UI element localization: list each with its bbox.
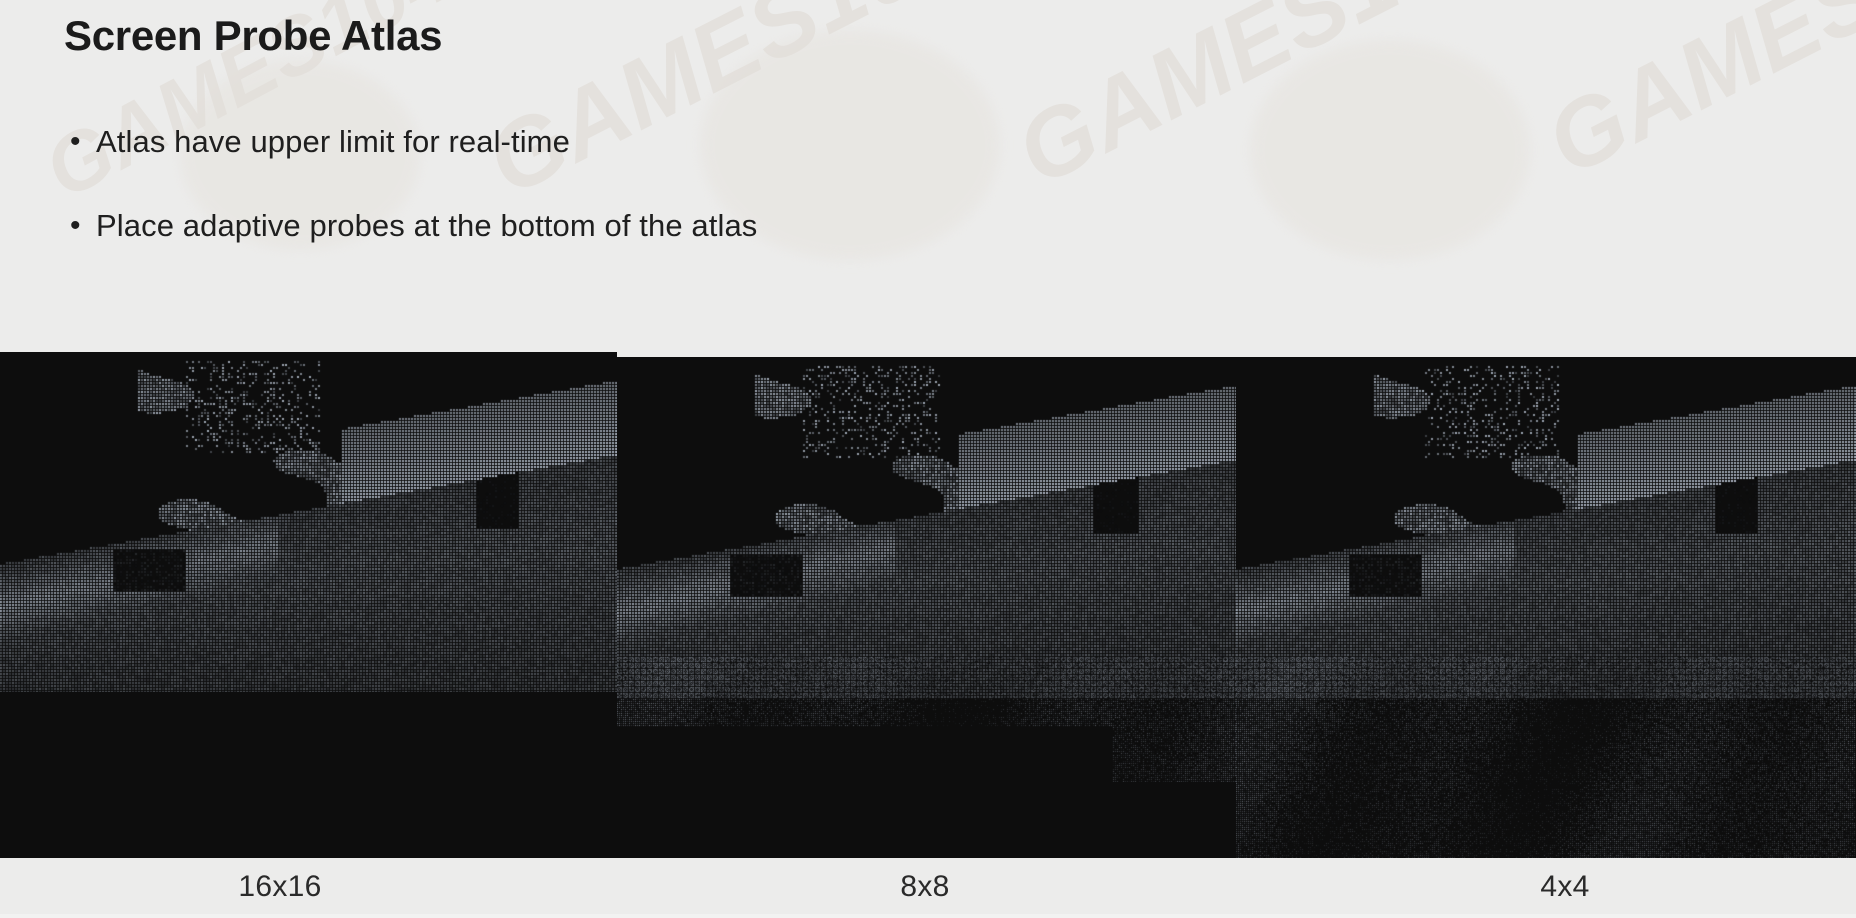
caption-8x8: 8x8	[900, 870, 949, 904]
panel-empty-region	[0, 692, 617, 858]
figure-captions: 16x16 8x8 4x4	[0, 858, 1856, 918]
atlas-render-canvas	[0, 352, 617, 692]
atlas-panel-8x8	[617, 352, 1236, 858]
panel-empty-region	[617, 782, 1236, 858]
bullet-marker-icon: •	[70, 122, 96, 162]
list-item: • Place adaptive probes at the bottom of…	[70, 206, 1370, 246]
list-item-label: Atlas have upper limit for real-time	[96, 122, 570, 162]
bullet-marker-icon: •	[70, 206, 96, 246]
slide-root: GAMES104 GAMES104 GAMES104 GAMES104 Scre…	[0, 0, 1856, 918]
atlas-panel-16x16	[0, 352, 617, 858]
atlas-render-canvas	[1236, 357, 1856, 858]
page-title: Screen Probe Atlas	[64, 12, 442, 60]
atlas-render-canvas	[617, 357, 1236, 782]
slide-bottom-edge	[0, 914, 1856, 918]
list-item: • Atlas have upper limit for real-time	[70, 122, 1370, 162]
caption-4x4: 4x4	[1540, 870, 1589, 904]
bullet-list: • Atlas have upper limit for real-time •…	[70, 122, 1370, 290]
watermark-text: GAMES104	[1530, 0, 1856, 198]
probe-atlas-figure	[0, 352, 1856, 858]
caption-16x16: 16x16	[238, 870, 321, 904]
list-item-label: Place adaptive probes at the bottom of t…	[96, 206, 757, 246]
atlas-panel-4x4	[1236, 352, 1856, 858]
